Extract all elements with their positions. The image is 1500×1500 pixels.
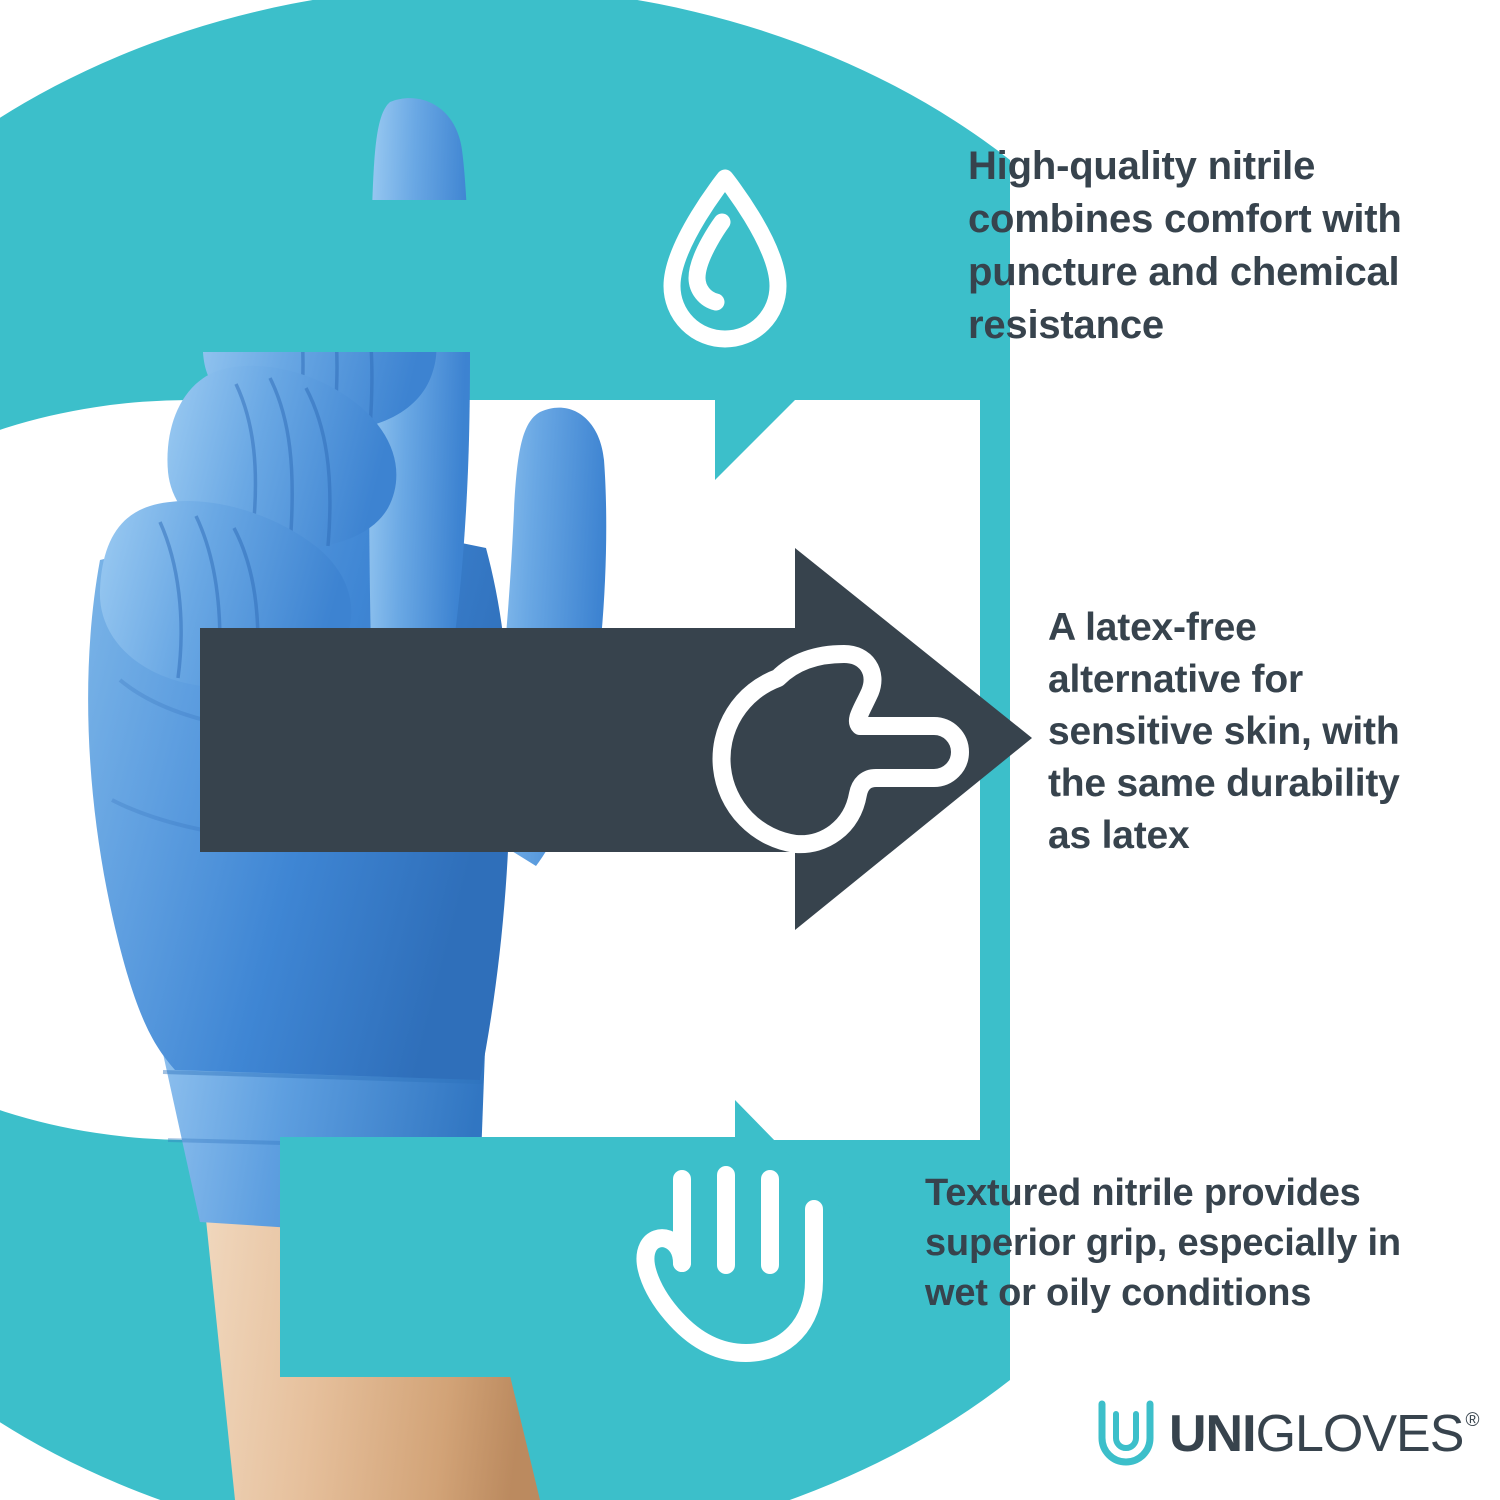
feature-2-line-3: sensitive skin, with [1048, 706, 1428, 758]
feature-1-arrow [0, 60, 940, 490]
logo-uni-text: UNI [1169, 1408, 1256, 1460]
feature-2-line-5: as latex [1048, 810, 1428, 862]
feature-3-text: Textured nitrile provides superior grip,… [925, 1168, 1425, 1318]
logo-gloves-text: GLOVES [1256, 1408, 1464, 1460]
feature-1-line-2: combines comfort with [968, 193, 1428, 246]
feature-2-arrow [200, 540, 1040, 940]
feature-2-text: A latex-free alternative for sensitive s… [1048, 602, 1428, 862]
feature-3-line-1: Textured nitrile provides [925, 1168, 1425, 1218]
infographic-canvas: High-quality nitrile combines comfort wi… [0, 0, 1500, 1500]
feature-3-arrow [280, 1095, 930, 1465]
feature-1-line-4: resistance [968, 299, 1428, 352]
feature-1-line-1: High-quality nitrile [968, 140, 1428, 193]
unigloves-logo: UNI GLOVES ® [1095, 1398, 1479, 1470]
registered-trademark-icon: ® [1465, 1408, 1479, 1434]
feature-3-line-2: superior grip, especially in [925, 1218, 1425, 1268]
unigloves-wordmark: UNI GLOVES ® [1169, 1408, 1479, 1460]
feature-2-line-2: alternative for [1048, 654, 1428, 706]
unigloves-u-mark-icon [1095, 1398, 1157, 1470]
feature-1-line-3: puncture and chemical [968, 246, 1428, 299]
feature-1-text: High-quality nitrile combines comfort wi… [968, 140, 1428, 352]
feature-2-line-4: the same durability [1048, 758, 1428, 810]
feature-2-line-1: A latex-free [1048, 602, 1428, 654]
feature-3-line-3: wet or oily conditions [925, 1268, 1425, 1318]
